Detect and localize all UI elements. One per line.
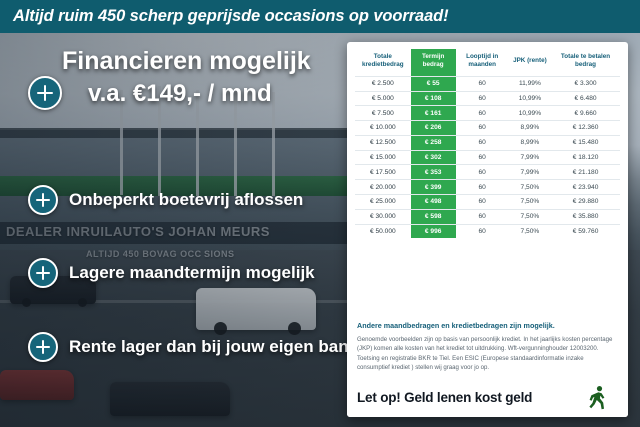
- cell-credit-amount: € 25.000: [355, 194, 411, 209]
- cell-credit-amount: € 30.000: [355, 209, 411, 224]
- cell-credit-amount: € 12.500: [355, 135, 411, 150]
- cell-total-payable: € 35.880: [551, 209, 620, 224]
- cell-monthly-amount: € 161: [411, 106, 456, 121]
- cell-total-payable: € 29.880: [551, 194, 620, 209]
- cell-monthly-amount: € 108: [411, 91, 456, 106]
- cell-term-months: 60: [456, 121, 509, 136]
- cell-monthly-amount: € 399: [411, 180, 456, 195]
- cell-apr: 10,99%: [509, 106, 551, 121]
- cell-term-months: 60: [456, 224, 509, 238]
- cell-total-payable: € 12.360: [551, 121, 620, 136]
- cell-monthly-amount: € 55: [411, 76, 456, 91]
- table-row: € 10.000 € 206 60 8,99% € 12.360: [355, 121, 620, 136]
- cell-monthly-amount: € 598: [411, 209, 456, 224]
- table-row: € 30.000 € 598 60 7,50% € 35.880: [355, 209, 620, 224]
- cell-total-payable: € 6.480: [551, 91, 620, 106]
- table-row: € 12.500 € 258 60 8,99% € 15.480: [355, 135, 620, 150]
- benefit-label: Lagere maandtermijn mogelijk: [69, 263, 315, 283]
- table-row: € 20.000 € 399 60 7,50% € 23.940: [355, 180, 620, 195]
- cell-term-months: 60: [456, 76, 509, 91]
- table-header-cell: Totale te betalen bedrag: [551, 49, 620, 76]
- cell-credit-amount: € 17.500: [355, 165, 411, 180]
- benefit-label: Rente lager dan bij jouw eigen bank: [69, 337, 358, 357]
- note-title: Andere maandbedragen en kredietbedragen …: [357, 321, 619, 330]
- cell-monthly-amount: € 258: [411, 135, 456, 150]
- table-row: € 7.500 € 161 60 10,99% € 9.660: [355, 106, 620, 121]
- cell-credit-amount: € 10.000: [355, 121, 411, 136]
- walking-person-icon: [586, 385, 612, 411]
- benefit-item-2: Rente lager dan bij jouw eigen bank: [28, 332, 358, 362]
- cell-apr: 8,99%: [509, 121, 551, 136]
- card-bottom-edge: [347, 414, 628, 417]
- cell-apr: 7,50%: [509, 180, 551, 195]
- cell-credit-amount: € 5.000: [355, 91, 411, 106]
- cell-apr: 8,99%: [509, 135, 551, 150]
- table-header-cell: Termijn bedrag: [411, 49, 456, 76]
- cell-term-months: 60: [456, 106, 509, 121]
- cell-monthly-amount: € 206: [411, 121, 456, 136]
- table-row: € 2.500 € 55 60 11,99% € 3.300: [355, 76, 620, 91]
- headline-badge-row: [28, 76, 62, 110]
- benefit-item-1: Lagere maandtermijn mogelijk: [28, 258, 315, 288]
- legal-warning-text: Let op! Geld lenen kost geld: [357, 390, 532, 405]
- table-row: € 17.500 € 353 60 7,99% € 21.180: [355, 165, 620, 180]
- cell-total-payable: € 15.480: [551, 135, 620, 150]
- cell-term-months: 60: [456, 135, 509, 150]
- cell-term-months: 60: [456, 180, 509, 195]
- headline-line-1: Financieren mogelijk: [62, 48, 342, 76]
- table-row: € 50.000 € 996 60 7,50% € 59.760: [355, 224, 620, 238]
- cell-total-payable: € 23.940: [551, 180, 620, 195]
- cell-apr: 7,99%: [509, 150, 551, 165]
- cell-total-payable: € 59.760: [551, 224, 620, 238]
- table-row: € 25.000 € 498 60 7,50% € 29.880: [355, 194, 620, 209]
- cell-term-months: 60: [456, 150, 509, 165]
- plus-icon: [28, 76, 62, 110]
- cell-term-months: 60: [456, 91, 509, 106]
- benefit-label: Onbeperkt boetevrij aflossen: [69, 190, 303, 210]
- cell-apr: 7,50%: [509, 209, 551, 224]
- table-header-row: Totale kredietbedrag Termijn bedrag Loop…: [355, 49, 620, 76]
- table-header-cell: Totale kredietbedrag: [355, 49, 411, 76]
- cell-term-months: 60: [456, 165, 509, 180]
- promo-banner: Altijd ruim 450 scherp geprijsde occasio…: [0, 0, 640, 33]
- table-header-cell: Looptijd in maanden: [456, 49, 509, 76]
- cell-credit-amount: € 50.000: [355, 224, 411, 238]
- benefit-item-0: Onbeperkt boetevrij aflossen: [28, 185, 303, 215]
- headline-line-2: v.a. €149,- / mnd: [62, 80, 342, 108]
- cell-credit-amount: € 2.500: [355, 76, 411, 91]
- headline-block: Financieren mogelijk v.a. €149,- / mnd: [62, 48, 342, 107]
- cell-apr: 7,50%: [509, 194, 551, 209]
- cell-credit-amount: € 15.000: [355, 150, 411, 165]
- cell-credit-amount: € 20.000: [355, 180, 411, 195]
- plus-icon: [28, 332, 58, 362]
- note-body: Genoemde voorbeelden zijn op basis van p…: [357, 335, 615, 372]
- table-header-cell: JPK (rente): [509, 49, 551, 76]
- cell-apr: 7,99%: [509, 165, 551, 180]
- cell-monthly-amount: € 498: [411, 194, 456, 209]
- cell-term-months: 60: [456, 209, 509, 224]
- promo-banner-text: Altijd ruim 450 scherp geprijsde occasio…: [0, 7, 449, 26]
- cell-apr: 7,50%: [509, 224, 551, 238]
- cell-total-payable: € 21.180: [551, 165, 620, 180]
- cell-monthly-amount: € 353: [411, 165, 456, 180]
- cell-term-months: 60: [456, 194, 509, 209]
- cell-total-payable: € 9.660: [551, 106, 620, 121]
- table-row: € 5.000 € 108 60 10,99% € 6.480: [355, 91, 620, 106]
- cell-total-payable: € 3.300: [551, 76, 620, 91]
- plus-icon: [28, 185, 58, 215]
- table-row: € 15.000 € 302 60 7,99% € 18.120: [355, 150, 620, 165]
- cell-credit-amount: € 7.500: [355, 106, 411, 121]
- cell-apr: 10,99%: [509, 91, 551, 106]
- cell-apr: 11,99%: [509, 76, 551, 91]
- financing-table-card: Totale kredietbedrag Termijn bedrag Loop…: [347, 42, 628, 417]
- advertisement-page: DEALER INRUILAUTO'S JOHAN MEURS ALTIJD 4…: [0, 0, 640, 427]
- plus-icon: [28, 258, 58, 288]
- cell-monthly-amount: € 996: [411, 224, 456, 238]
- cell-total-payable: € 18.120: [551, 150, 620, 165]
- financing-table: Totale kredietbedrag Termijn bedrag Loop…: [355, 49, 620, 238]
- cell-monthly-amount: € 302: [411, 150, 456, 165]
